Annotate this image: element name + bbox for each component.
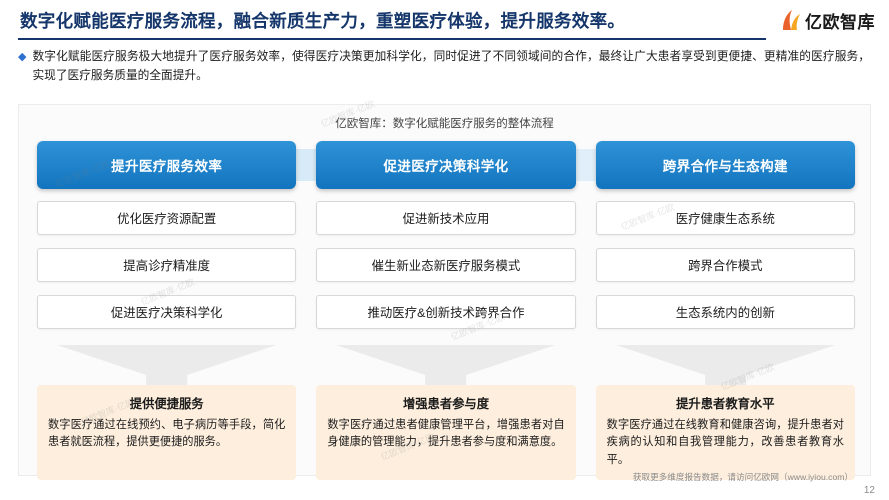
logo-mark-icon xyxy=(779,9,801,33)
stage-pill-3[interactable]: 跨界合作与生态构建 xyxy=(596,141,855,189)
column-2: 促进新技术应用 催生新业态新医疗服务模式 推动医疗&创新技术跨界合作 xyxy=(316,201,575,329)
list-item[interactable]: 医疗健康生态系统 xyxy=(596,201,855,235)
diagram-title: 亿欧智库：数字化赋能医疗服务的整体流程 xyxy=(19,115,870,131)
title-divider xyxy=(18,38,766,40)
note-title: 提供便捷服务 xyxy=(48,394,285,412)
brand-logo: 亿欧智库 xyxy=(779,8,875,33)
list-item[interactable]: 促进医疗决策科学化 xyxy=(37,295,296,329)
diagram-card: 亿欧智库：数字化赋能医疗服务的整体流程 提升医疗服务效率 促进医疗决策科学化 跨… xyxy=(18,104,871,476)
note-title: 提升患者教育水平 xyxy=(607,394,844,412)
note-card-2: 增强患者参与度 数字医疗通过患者健康管理平台，增强患者对自身健康的管理能力，提升… xyxy=(316,385,575,480)
header: 数字化赋能医疗服务流程，融合新质生产力，重塑医疗体验，提升服务效率。 xyxy=(0,0,889,33)
list-item[interactable]: 催生新业态新医疗服务模式 xyxy=(316,248,575,282)
note-body: 数字医疗通过患者健康管理平台，增强患者对自身健康的管理能力，提升患者参与度和满意… xyxy=(327,417,564,452)
column-3: 医疗健康生态系统 跨界合作模式 生态系统内的创新 xyxy=(596,201,855,329)
funnel-1 xyxy=(37,345,296,385)
note-card-3: 提升患者教育水平 数字医疗通过在线教育和健康咨询，提升患者对疾病的认知和自我管理… xyxy=(596,385,855,480)
bullet-icon: ◆ xyxy=(18,48,26,66)
stage-row: 提升医疗服务效率 促进医疗决策科学化 跨界合作与生态构建 xyxy=(37,141,855,189)
footer-note: 获取更多维度报告数据，请访问亿欧网（www.iyiou.com） xyxy=(633,471,853,483)
list-item[interactable]: 提高诊疗精准度 xyxy=(37,248,296,282)
logo-text: 亿欧智库 xyxy=(805,8,875,33)
lead-paragraph: ◆ 数字化赋能医疗服务极大地提升了医疗服务效率，使得医疗决策更加科学化，同时促进… xyxy=(18,48,870,86)
note-card-1: 提供便捷服务 数字医疗通过在线预约、电子病历等手段，简化患者就医流程，提供更便捷… xyxy=(37,385,296,480)
slide-page: 数字化赋能医疗服务流程，融合新质生产力，重塑医疗体验，提升服务效率。 亿欧智库 … xyxy=(0,0,889,500)
funnel-row xyxy=(37,345,855,385)
note-body: 数字医疗通过在线教育和健康咨询，提升患者对疾病的认知和自我管理能力，改善患者教育… xyxy=(607,417,844,469)
list-item[interactable]: 优化医疗资源配置 xyxy=(37,201,296,235)
note-title: 增强患者参与度 xyxy=(327,394,564,412)
list-item[interactable]: 促进新技术应用 xyxy=(316,201,575,235)
column-1: 优化医疗资源配置 提高诊疗精准度 促进医疗决策科学化 xyxy=(37,201,296,329)
list-item[interactable]: 跨界合作模式 xyxy=(596,248,855,282)
page-title: 数字化赋能医疗服务流程，融合新质生产力，重塑医疗体验，提升服务效率。 xyxy=(20,10,869,33)
note-row: 提供便捷服务 数字医疗通过在线预约、电子病历等手段，简化患者就医流程，提供更便捷… xyxy=(37,385,855,480)
item-columns: 优化医疗资源配置 提高诊疗精准度 促进医疗决策科学化 促进新技术应用 催生新业态… xyxy=(37,201,855,329)
lead-text: 数字化赋能医疗服务极大地提升了医疗服务效率，使得医疗决策更加科学化，同时促进了不… xyxy=(32,48,870,86)
list-item[interactable]: 生态系统内的创新 xyxy=(596,295,855,329)
page-number: 12 xyxy=(864,485,875,496)
stage-pill-2[interactable]: 促进医疗决策科学化 xyxy=(316,141,575,189)
list-item[interactable]: 推动医疗&创新技术跨界合作 xyxy=(316,295,575,329)
funnel-2 xyxy=(316,345,575,385)
funnel-3 xyxy=(596,345,855,385)
stage-pill-1[interactable]: 提升医疗服务效率 xyxy=(37,141,296,189)
note-body: 数字医疗通过在线预约、电子病历等手段，简化患者就医流程，提供更便捷的服务。 xyxy=(48,417,285,452)
